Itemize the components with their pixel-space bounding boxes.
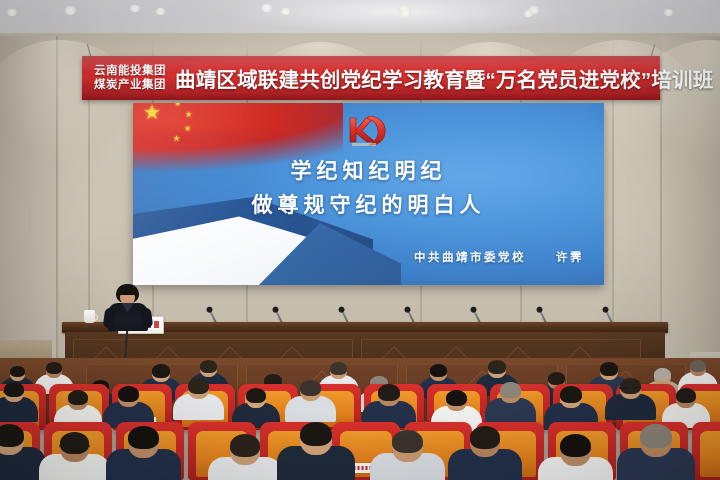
event-banner: 云南能投集团 煤炭产业集团 曲靖区域联建共创党纪学习教育暨“万名党员进党校”培训… xyxy=(82,56,660,100)
conference-hall-photo: 云南能投集团 煤炭产业集团 曲靖区域联建共创党纪学习教育暨“万名党员进党校”培训… xyxy=(0,0,720,480)
audience-middle-7-hair xyxy=(378,384,400,401)
audience-middle-11-glasses-right xyxy=(633,387,642,389)
slide-title: 学纪知纪明纪 做尊规守纪的明白人 xyxy=(133,155,604,219)
audience-back-7-hair xyxy=(330,362,347,375)
audience-middle-11-glasses xyxy=(619,387,628,389)
audience-back-11-glasses-right xyxy=(558,380,565,382)
speaker-right-arm xyxy=(140,307,154,328)
audience-middle-8-hair xyxy=(446,390,467,406)
seat-front-11 xyxy=(692,422,720,480)
slide-title-line-1: 学纪知纪明纪 xyxy=(133,155,604,185)
audience-middle-10-hair xyxy=(560,386,582,403)
teacup xyxy=(84,310,95,323)
banner-org-line-1: 云南能投集团 xyxy=(94,64,166,78)
audience-front-2-glasses xyxy=(59,445,71,447)
banner-org-line-2: 煤炭产业集团 xyxy=(94,78,166,93)
audience-back-13-hair xyxy=(654,368,671,381)
speaker-fringe xyxy=(117,287,138,295)
left-wall-corner xyxy=(56,36,59,366)
seat-cushion-front-11 xyxy=(700,431,720,476)
downlight-2 xyxy=(64,6,77,15)
audience-middle-5-hair xyxy=(246,388,266,403)
audience-back-2-hair xyxy=(46,362,62,374)
slide-institution: 中共曲靖市委党校 xyxy=(414,249,526,265)
slide-credit: 中共曲靖市委党校 许霁 xyxy=(414,249,584,265)
audience-back-10-hair xyxy=(488,360,506,374)
slide-title-line-2: 做尊规守纪的明白人 xyxy=(133,189,604,219)
audience-middle-11-hair xyxy=(620,378,641,394)
projection-screen: ★ ★ ★ ★ ★ xyxy=(133,103,604,285)
audience-middle-12-hair xyxy=(676,388,696,403)
slide-presenter: 许霁 xyxy=(556,249,584,265)
audience-front-2-glasses-right xyxy=(77,445,89,447)
audience-front-4-hair xyxy=(230,434,260,457)
banner-main-text: 曲靖区域联建共创党纪学习教育暨“万名党员进党校”培训班 xyxy=(175,63,714,93)
banner-organization: 云南能投集团 煤炭产业集团 xyxy=(94,64,166,93)
audience-front-2-hair xyxy=(60,432,89,454)
downlight-8 xyxy=(400,9,411,16)
audience-front-8-hair xyxy=(560,434,591,457)
audience-back-4-hair xyxy=(152,364,170,378)
audience-front-7-hair xyxy=(470,426,500,449)
audience-front-9-hair xyxy=(640,424,672,448)
flag-star-large: ★ xyxy=(143,103,161,123)
audience-middle-3-hair xyxy=(118,386,139,402)
audience-middle-4-hair xyxy=(188,378,209,394)
audience-back-11-hair xyxy=(548,372,565,385)
audience-front-5-hair xyxy=(300,422,332,446)
left-wall xyxy=(0,36,58,366)
audience-middle-9-hair xyxy=(500,382,521,398)
audience-middle-1-glasses-right xyxy=(16,391,24,393)
audience-back-9-hair xyxy=(430,364,447,377)
audience-area xyxy=(0,360,720,480)
audience-back-14-hair xyxy=(690,360,706,372)
presentation-slide: ★ ★ ★ ★ ★ xyxy=(133,103,604,285)
speaker-person xyxy=(104,284,152,330)
ccp-emblem-icon xyxy=(338,109,394,153)
flag-star-3: ★ xyxy=(184,125,191,133)
flag-star-2: ★ xyxy=(185,111,192,119)
audience-back-5-hair xyxy=(200,360,217,373)
flag-star-1: ★ xyxy=(174,103,181,108)
flag-star-4: ★ xyxy=(173,135,180,143)
audience-middle-1-glasses xyxy=(3,391,11,393)
audience-middle-6-hair xyxy=(300,380,321,396)
audience-middle-2-hair xyxy=(68,390,88,405)
audience-front-3-hair xyxy=(128,426,159,449)
audience-back-12-hair xyxy=(600,362,618,376)
audience-middle-1-hair xyxy=(4,382,24,397)
audience-back-11-glasses xyxy=(547,380,554,382)
audience-front-6-hair xyxy=(392,430,423,453)
downlight-6 xyxy=(280,8,291,15)
audience-front-1-hair xyxy=(0,424,24,447)
downlight-11 xyxy=(663,9,674,16)
audience-back-1-hair xyxy=(10,366,25,377)
